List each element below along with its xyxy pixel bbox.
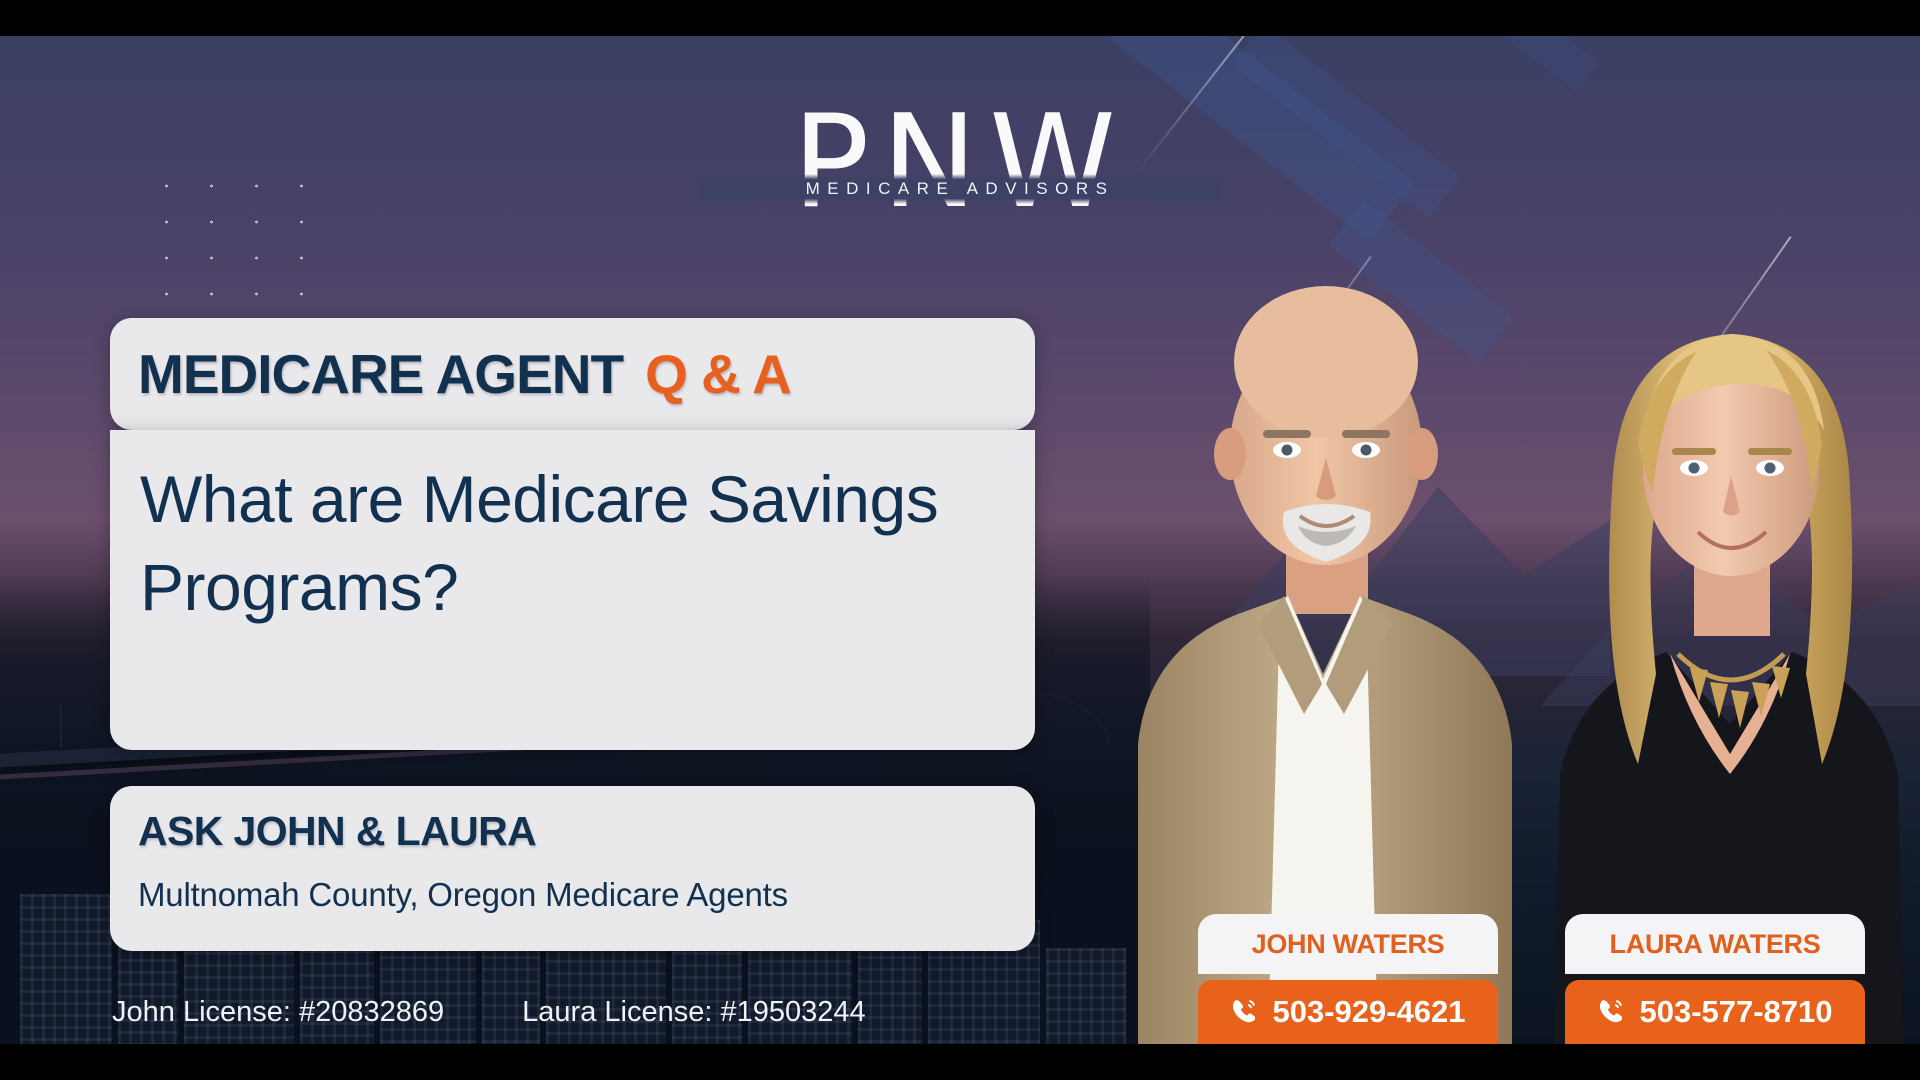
badge-laura-phone[interactable]: 503-577-8710 <box>1565 980 1865 1044</box>
kicker-card: MEDICARE AGENT Q & A <box>110 318 1035 430</box>
john-license-text: John License: #20832869 <box>112 996 444 1029</box>
logo-tagline: MEDICARE ADVISORS <box>700 174 1220 204</box>
badge-john-phone[interactable]: 503-929-4621 <box>1198 980 1498 1044</box>
ask-title: ASK JOHN & LAURA <box>138 808 536 855</box>
ask-subtitle: Multnomah County, Oregon Medicare Agents <box>138 876 788 914</box>
dot-grid-pattern <box>144 168 330 298</box>
badge-john-phone-text: 503-929-4621 <box>1272 994 1465 1030</box>
kicker-accent-text: Q & A <box>645 342 791 406</box>
building <box>20 894 112 1044</box>
kicker-primary-text: MEDICARE AGENT <box>138 342 623 406</box>
diagonal-streak-4 <box>1419 36 1600 93</box>
thumbnail-canvas: PNW MEDICARE ADVISORS MEDICARE AGENT Q &… <box>0 36 1920 1044</box>
kicker-heading: MEDICARE AGENT Q & A <box>138 318 791 430</box>
question-card: What are Medicare Savings Programs? <box>110 430 1035 750</box>
pnw-medicare-advisors-logo: PNW MEDICARE ADVISORS <box>700 88 1220 248</box>
question-text: What are Medicare Savings Programs? <box>140 456 1010 632</box>
license-row: John License: #20832869 Laura License: #… <box>112 996 1012 1029</box>
badge-john-name: JOHN WATERS <box>1198 914 1498 974</box>
bridge-truss <box>60 706 62 748</box>
phone-ringing-icon <box>1597 997 1627 1027</box>
ask-card: ASK JOHN & LAURA Multnomah County, Orego… <box>110 786 1035 951</box>
video-thumbnail: PNW MEDICARE ADVISORS MEDICARE AGENT Q &… <box>0 0 1920 1080</box>
badge-laura-phone-text: 503-577-8710 <box>1639 994 1832 1030</box>
logo-wordmark: PNW <box>700 88 1220 238</box>
badge-laura[interactable]: LAURA WATERS 503-577-8710 <box>1565 914 1865 1044</box>
badge-john[interactable]: JOHN WATERS 503-929-4621 <box>1198 914 1498 1044</box>
badge-laura-name: LAURA WATERS <box>1565 914 1865 974</box>
laura-license-text: Laura License: #19503244 <box>522 996 865 1029</box>
phone-ringing-icon <box>1230 997 1260 1027</box>
